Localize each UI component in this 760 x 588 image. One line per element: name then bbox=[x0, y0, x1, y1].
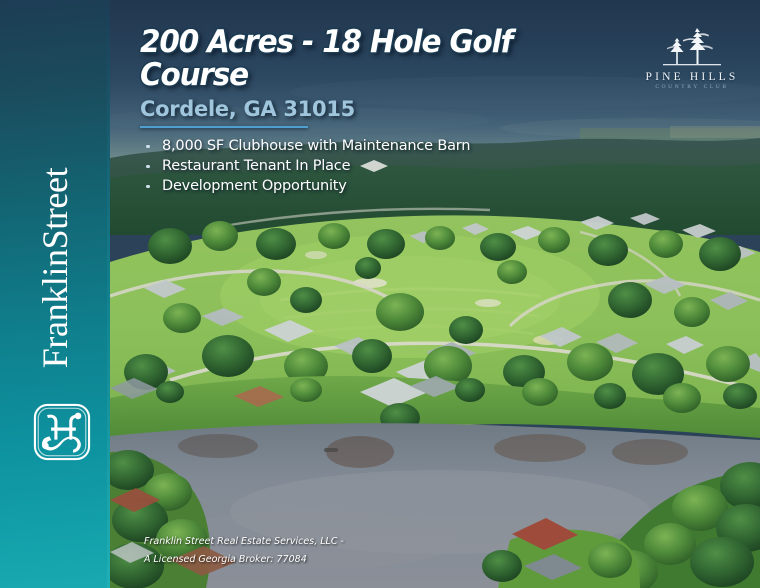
flyer-cover-page: 200 Acres - 18 Hole Golf Course Cordele,… bbox=[0, 0, 760, 588]
brand-sidebar: FranklinStreet bbox=[0, 0, 110, 588]
aerial-photo bbox=[110, 0, 760, 588]
aerial-photo-illustration bbox=[110, 0, 760, 588]
franklin-street-fs-monogram-icon bbox=[33, 403, 91, 461]
franklin-street-wordmark: FranklinStreet bbox=[37, 168, 73, 368]
